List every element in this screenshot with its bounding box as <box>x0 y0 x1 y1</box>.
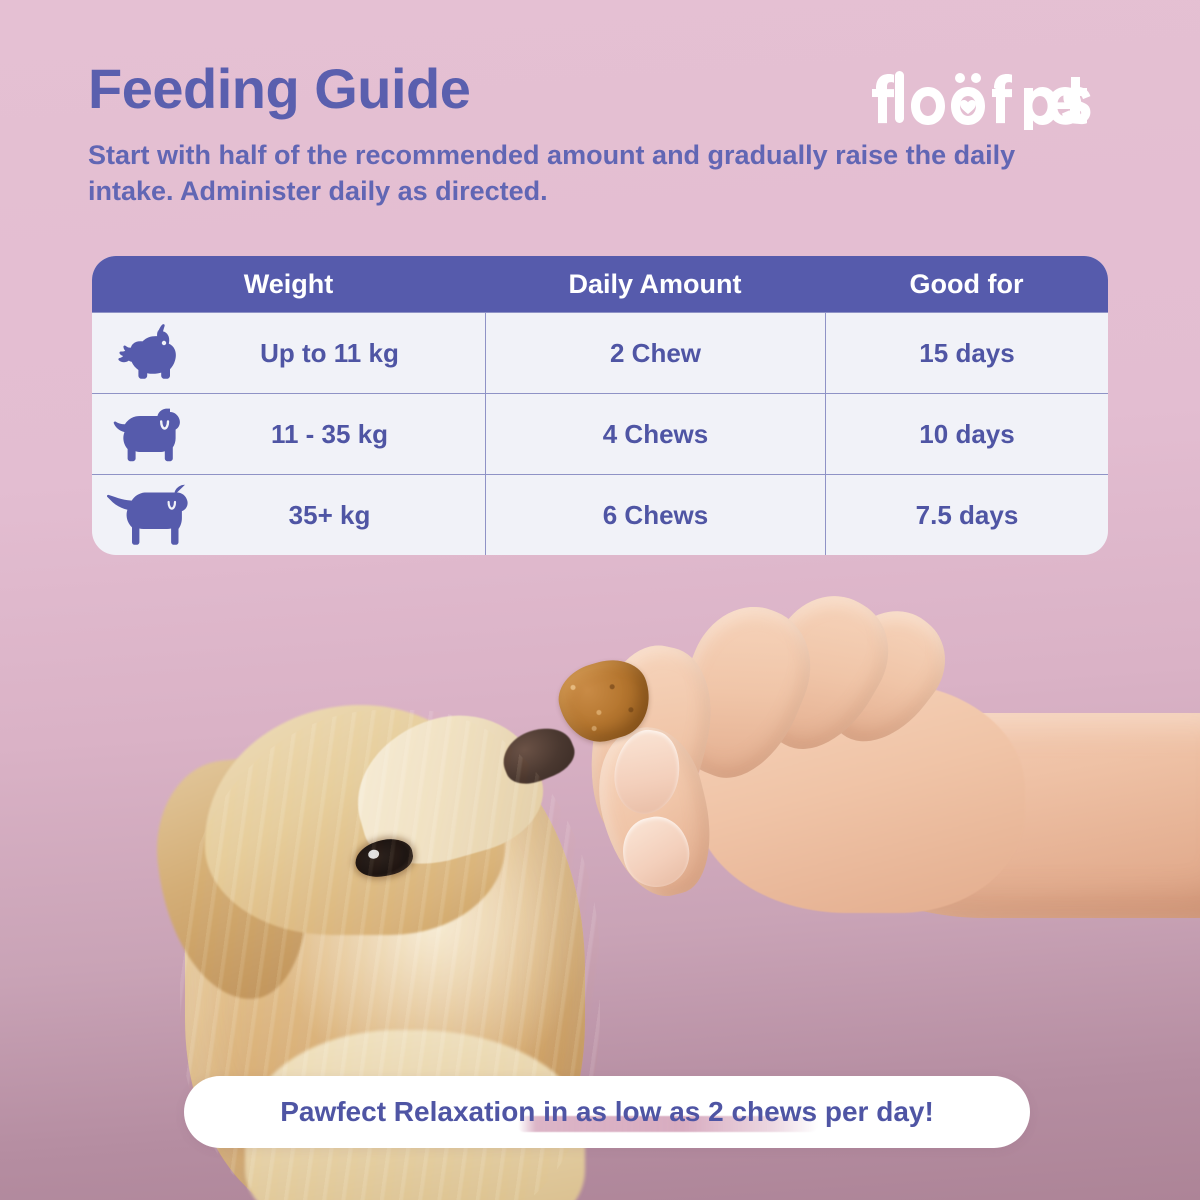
pinky-finger <box>801 591 966 763</box>
palm <box>695 683 1025 913</box>
thumbnail <box>616 811 695 893</box>
cell-good-for: 7.5 days <box>825 475 1108 555</box>
medium-dog-icon <box>92 405 204 463</box>
feeding-guide-poster: Feeding Guide Start with half of the rec… <box>0 0 1200 1200</box>
dog-nose <box>495 718 580 791</box>
column-header-good-for: Good for <box>825 269 1108 300</box>
weight-value: Up to 11 kg <box>204 338 485 369</box>
paw-heart-icon <box>862 68 1094 130</box>
feeding-table: Weight Daily Amount Good for Up to 11 kg… <box>92 256 1108 555</box>
cell-daily-amount: 2 Chew <box>485 313 825 393</box>
weight-value: 11 - 35 kg <box>204 419 485 450</box>
bottom-banner: Pawfect Relaxation in as low as 2 chews … <box>184 1076 1030 1148</box>
column-header-daily-amount: Daily Amount <box>485 269 825 300</box>
thumb <box>584 717 726 907</box>
large-dog-icon <box>92 484 204 546</box>
middle-finger <box>655 589 830 795</box>
table-header-row: Weight Daily Amount Good for <box>92 256 1108 312</box>
human-hand-photo <box>575 545 1200 965</box>
cell-daily-amount: 4 Chews <box>485 394 825 474</box>
table-row: Up to 11 kg 2 Chew 15 days <box>92 312 1108 393</box>
heart-treat-icon <box>551 651 659 751</box>
index-fingernail <box>608 725 686 819</box>
dog-eye <box>352 835 415 881</box>
small-dog-icon <box>92 323 204 383</box>
table-row: 11 - 35 kg 4 Chews 10 days <box>92 393 1108 474</box>
dog-ear <box>148 753 322 1007</box>
page-subtitle: Start with half of the recommended amoun… <box>88 137 1078 210</box>
cell-daily-amount: 6 Chews <box>485 475 825 555</box>
cell-good-for: 15 days <box>825 313 1108 393</box>
header: Feeding Guide Start with half of the rec… <box>88 60 1112 210</box>
dog-muzzle <box>339 695 555 881</box>
table-row: 35+ kg 6 Chews 7.5 days <box>92 474 1108 555</box>
weight-value: 35+ kg <box>204 500 485 531</box>
dog-head <box>205 705 505 935</box>
index-finger <box>573 636 724 855</box>
cell-good-for: 10 days <box>825 394 1108 474</box>
cell-weight: 35+ kg <box>92 475 485 555</box>
ring-finger <box>733 576 910 771</box>
brand-logo[interactable]: floöf pets <box>862 68 1094 130</box>
cell-weight: Up to 11 kg <box>92 313 485 393</box>
forearm <box>815 713 1200 918</box>
column-header-weight: Weight <box>92 269 485 300</box>
banner-text: Pawfect Relaxation in as low as 2 chews … <box>280 1096 934 1128</box>
cell-weight: 11 - 35 kg <box>92 394 485 474</box>
